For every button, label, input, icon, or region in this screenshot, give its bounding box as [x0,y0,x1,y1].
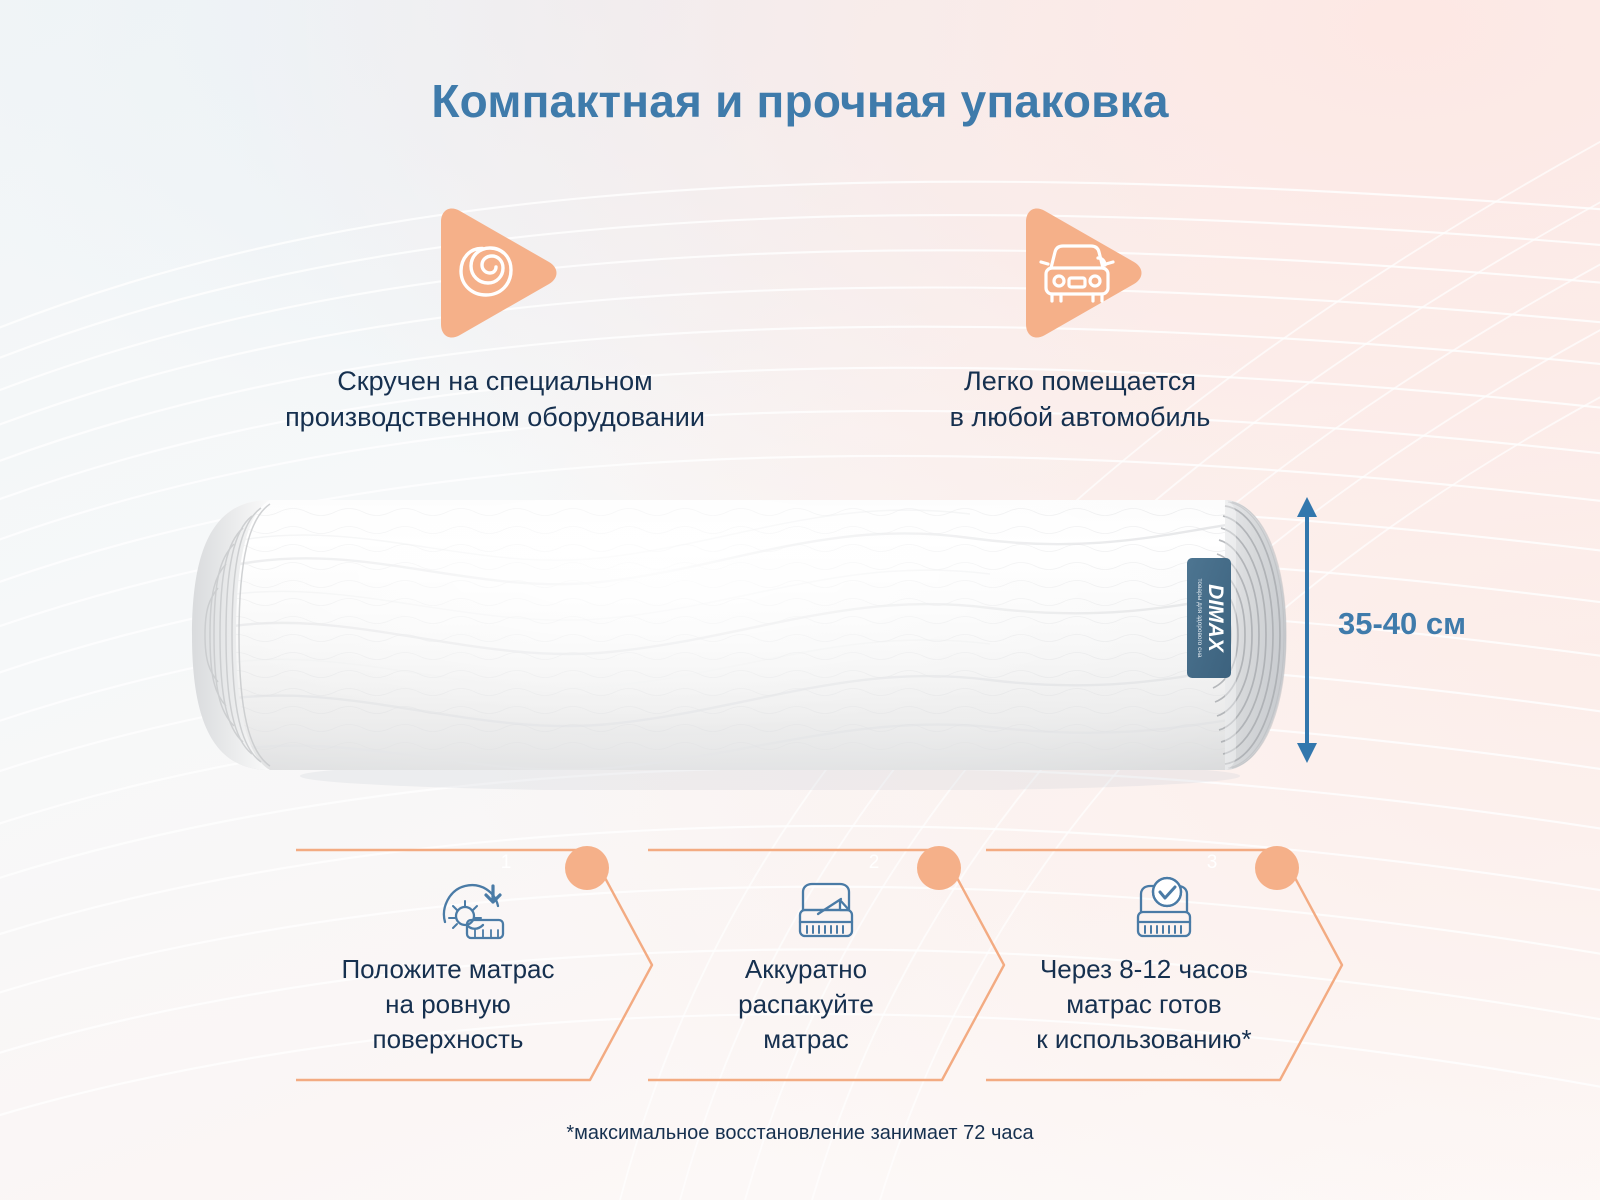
step-1[interactable]: 1 Положите матрас на ровную поверхность [290,840,658,1090]
feature-block-rolled: Скручен на специальном производственном … [215,196,775,435]
step-text: Через 8-12 часов матрас готов к использо… [966,952,1322,1057]
brand-tagline: товары для здорового сна [1196,578,1203,657]
step-3[interactable]: 3 Через 8-12 часов матрас готов к исполь… [980,840,1348,1090]
spiral-icon [420,196,570,346]
feature-caption: Легко помещается в любой автомобиль [900,364,1260,435]
step-number: 2 [854,852,894,874]
car-icon [1005,196,1155,346]
dimension-label: 35-40 см [1338,606,1466,642]
dimension-arrow [1285,495,1329,765]
step-number: 3 [1192,852,1232,874]
measuring-tape-mattress-icon [290,868,658,953]
footnote: *максимальное восстановление занимает 72… [0,1122,1600,1145]
unwrap-mattress-icon [642,868,1010,953]
car-badge [1005,196,1155,346]
rolled-mattress-image: DIMAX товары для здорового сна [170,480,1310,790]
feature-block-car: Легко помещается в любой автомобиль [900,196,1260,435]
step-text: Аккуратно распакуйте матрас [642,952,970,1057]
spiral-badge [420,196,570,346]
step-number: 1 [486,852,526,874]
brand-tag: DIMAX товары для здорового сна [1187,558,1231,678]
page-title: Компактная и прочная упаковка [0,74,1600,128]
step-2[interactable]: 2 Аккуратно распакуйте матрас [642,840,1010,1090]
step-text: Положите матрас на ровную поверхность [290,952,606,1057]
brand-name: DIMAX [1204,584,1227,654]
mattress-check-icon [980,868,1348,953]
feature-caption: Скручен на специальном производственном … [215,364,775,435]
